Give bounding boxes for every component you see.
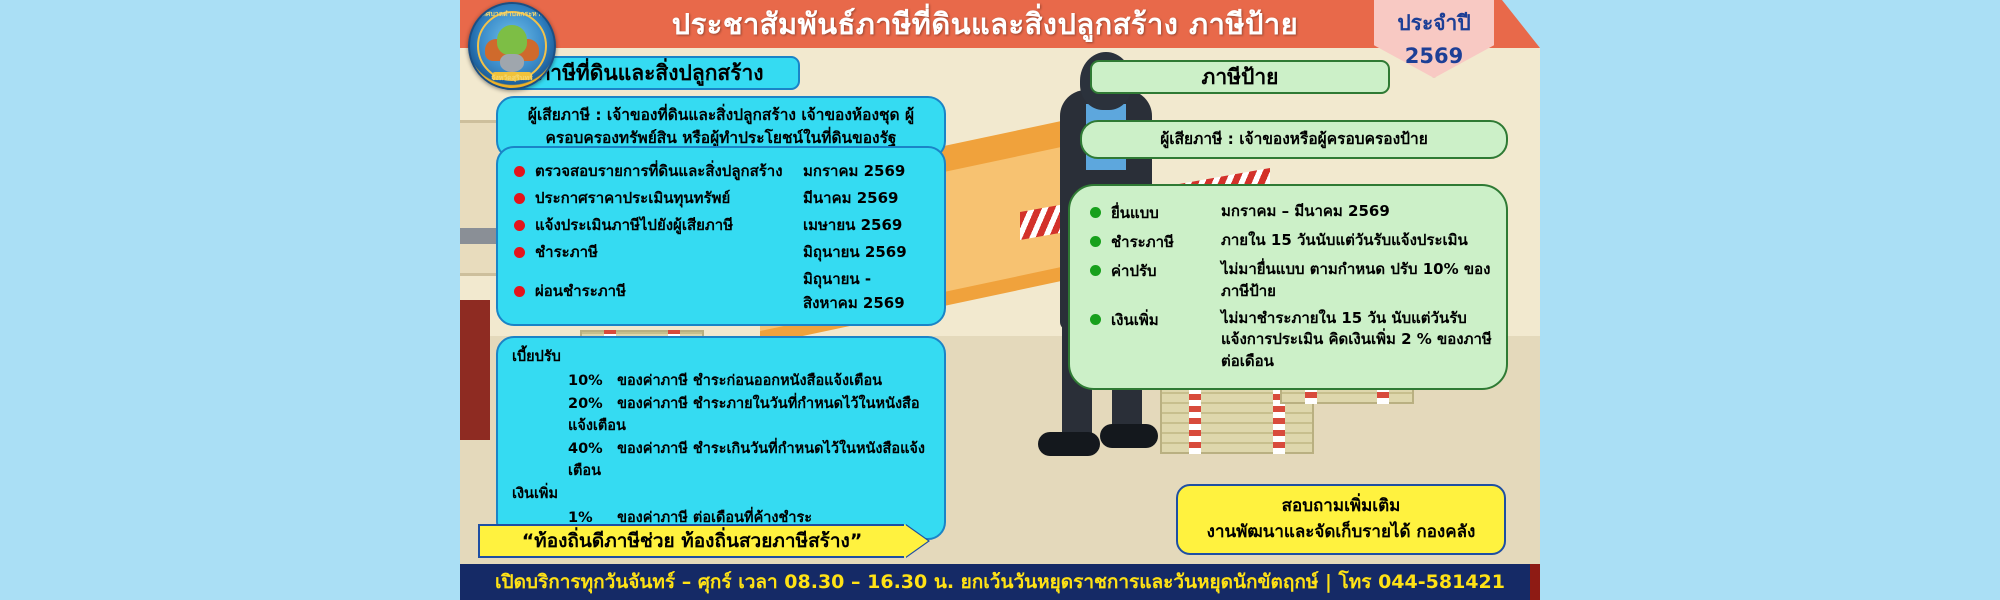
header-corner-cut <box>1502 0 1540 48</box>
sign-tax-detail-box: ยื่นแบบ มกราคม – มีนาคม 2569 ชำระภาษี ภา… <box>1068 184 1508 390</box>
timeline-label: ผ่อนชำระภาษี <box>535 279 803 303</box>
fine-row: 10% ของค่าภาษี ชำระก่อนออกหนังสือแจ้งเตื… <box>512 370 930 392</box>
sign-tax-list: ยื่นแบบ มกราคม – มีนาคม 2569 ชำระภาษี ภา… <box>1070 186 1506 388</box>
contact-line-1: สอบถามเพิ่มเติม <box>1190 494 1492 520</box>
bullet-dot-icon <box>514 193 525 204</box>
bullet-dot-icon <box>514 220 525 231</box>
sign-tax-row: เงินเพิ่ม ไม่มาชำระภายใน 15 วัน นับแต่วั… <box>1090 308 1492 373</box>
timeline-row: ตรวจสอบรายการที่ดินและสิ่งปลูกสร้าง มกรา… <box>514 159 930 183</box>
seal-figure <box>497 25 527 55</box>
sign-tax-label: ค่าปรับ <box>1111 259 1221 303</box>
sign-tax-value: ไม่มาชำระภายใน 15 วัน นับแต่วันรับแจ้งกา… <box>1221 308 1492 373</box>
poster-canvas: ประชาสัมพันธ์ภาษีที่ดินและสิ่งปลูกสร้าง … <box>460 0 1540 600</box>
bullet-dot-icon <box>1090 265 1101 276</box>
timeline-date: มิถุนายน - สิงหาคม 2569 <box>803 267 930 315</box>
right-background-rail <box>1540 0 2000 600</box>
year-badge-label: ประจำปี <box>1374 7 1494 40</box>
sign-tax-row: ยื่นแบบ มกราคม – มีนาคม 2569 <box>1090 201 1492 225</box>
fine-row: 20% ของค่าภาษี ชำระภายในวันที่กำหนดไว้ใน… <box>512 393 930 438</box>
timeline-date: มีนาคม 2569 <box>803 186 930 210</box>
timeline-row: ประกาศราคาประเมินทุนทรัพย์ มีนาคม 2569 <box>514 186 930 210</box>
land-tax-timeline-list: ตรวจสอบรายการที่ดินและสิ่งปลูกสร้าง มกรา… <box>498 148 944 324</box>
timeline-label: ชำระภาษี <box>535 240 803 264</box>
bullet-dot-icon <box>514 247 525 258</box>
timeline-date: เมษายน 2569 <box>803 213 930 237</box>
seal-bottom-text: จังหวัดสุรินทร์ <box>470 73 554 84</box>
footer-bar: เปิดบริการทุกวันจันทร์ – ศุกร์ เวลา 08.3… <box>460 564 1540 600</box>
timeline-row: แจ้งประเมินภาษีไปยังผู้เสียภาษี เมษายน 2… <box>514 213 930 237</box>
sign-tax-payer-box: ผู้เสียภาษี : เจ้าของหรือผู้ครอบครองป้าย <box>1080 120 1508 159</box>
contact-line-2: งานพัฒนาและจัดเก็บรายได้ กองคลัง <box>1190 520 1492 546</box>
fine-percent: 40% <box>568 438 612 460</box>
sign-tax-row: ค่าปรับ ไม่มายื่นแบบ ตามกำหนด ปรับ 10% ข… <box>1090 259 1492 303</box>
fine-percent: 20% <box>568 393 612 415</box>
bullet-dot-icon <box>1090 314 1101 325</box>
timeline-row: ชำระภาษี มิถุนายน 2569 <box>514 240 930 264</box>
seal-elephant <box>500 54 524 72</box>
slogan-ribbon: “ท้องถิ่นดีภาษีช่วย ท้องถิ่นสวยภาษีสร้าง… <box>478 524 904 558</box>
surcharge-heading: เงินเพิ่ม <box>512 483 930 505</box>
fine-percent: 10% <box>568 370 612 392</box>
timeline-date: มิถุนายน 2569 <box>803 240 930 264</box>
penalty-content: เบี้ยปรับ 10% ของค่าภาษี ชำระก่อนออกหนัง… <box>498 338 944 538</box>
fine-text: ของค่าภาษี ชำระก่อนออกหนังสือแจ้งเตือน <box>617 373 882 389</box>
sign-tax-value: มกราคม – มีนาคม 2569 <box>1221 201 1492 225</box>
fine-text: ของค่าภาษี ชำระเกินวันที่กำหนดไว้ในหนังส… <box>568 441 925 479</box>
sign-tax-row: ชำระภาษี ภายใน 15 วันนับแต่วันรับแจ้งประ… <box>1090 230 1492 254</box>
background-red-wall <box>460 300 490 440</box>
person-illustration-shoe <box>1038 432 1100 456</box>
sign-tax-value: ไม่มายื่นแบบ ตามกำหนด ปรับ 10% ของภาษีป้… <box>1221 259 1492 303</box>
fine-heading: เบี้ยปรับ <box>512 346 930 368</box>
left-background-rail <box>0 0 460 600</box>
land-tax-timeline-box: ตรวจสอบรายการที่ดินและสิ่งปลูกสร้าง มกรา… <box>496 146 946 326</box>
bullet-dot-icon <box>1090 207 1101 218</box>
timeline-label: ตรวจสอบรายการที่ดินและสิ่งปลูกสร้าง <box>535 159 803 183</box>
sign-tax-label: เงินเพิ่ม <box>1111 308 1221 373</box>
timeline-date: มกราคม 2569 <box>803 159 930 183</box>
seal-top-text: เทศบาลตำบลกระหาด <box>470 9 554 20</box>
timeline-label: แจ้งประเมินภาษีไปยังผู้เสียภาษี <box>535 213 803 237</box>
fine-text: ของค่าภาษี ชำระภายในวันที่กำหนดไว้ในหนัง… <box>568 396 920 434</box>
bullet-dot-icon <box>514 286 525 297</box>
fine-row: 40% ของค่าภาษี ชำระเกินวันที่กำหนดไว้ในห… <box>512 438 930 483</box>
timeline-row: ผ่อนชำระภาษี มิถุนายน - สิงหาคม 2569 <box>514 267 930 315</box>
sign-tax-label: ชำระภาษี <box>1111 230 1221 254</box>
person-illustration-shoe <box>1100 424 1158 448</box>
contact-box: สอบถามเพิ่มเติม งานพัฒนาและจัดเก็บรายได้… <box>1176 484 1506 555</box>
bullet-dot-icon <box>514 166 525 177</box>
penalty-box: เบี้ยปรับ 10% ของค่าภาษี ชำระก่อนออกหนัง… <box>496 336 946 540</box>
municipality-seal-icon: เทศบาลตำบลกระหาด จังหวัดสุรินทร์ <box>468 2 556 90</box>
sign-tax-label: ยื่นแบบ <box>1111 201 1221 225</box>
timeline-label: ประกาศราคาประเมินทุนทรัพย์ <box>535 186 803 210</box>
sign-tax-value: ภายใน 15 วันนับแต่วันรับแจ้งประเมิน <box>1221 230 1492 254</box>
section-heading-sign-tax: ภาษีป้าย <box>1090 60 1390 94</box>
footer-accent <box>1530 564 1540 600</box>
slogan-ribbon-tip <box>904 524 928 558</box>
bullet-dot-icon <box>1090 236 1101 247</box>
